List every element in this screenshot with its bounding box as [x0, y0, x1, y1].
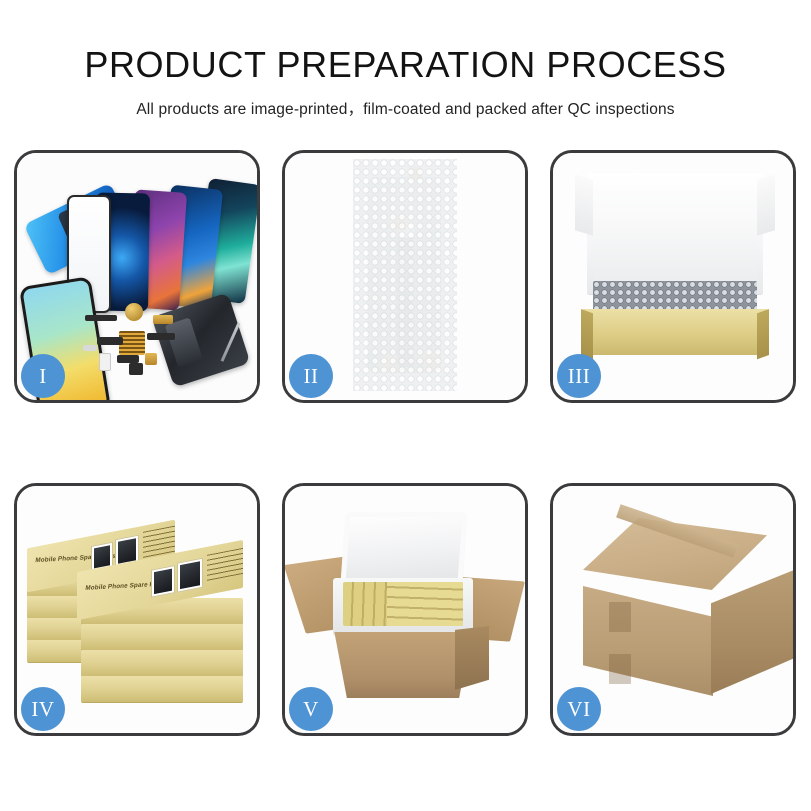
ribbon-cable-part [147, 333, 175, 340]
panel-badge-1: I [21, 354, 65, 398]
page-title: PRODUCT PREPARATION PROCESS [0, 46, 811, 84]
process-panel-3[interactable]: III [550, 150, 796, 403]
bubble-wrap-package [353, 159, 457, 391]
panel-badge-4: IV [21, 687, 65, 731]
sim-tray-part [99, 353, 111, 371]
stack-slab-r4 [81, 676, 243, 702]
process-panel-6[interactable]: VI [550, 483, 796, 736]
stack-slab-r2 [81, 624, 243, 650]
button-part [129, 363, 143, 375]
foam-box-lid [340, 512, 467, 584]
open-kraft-box-photo: III [553, 153, 793, 400]
retail-boxes-inside-right [387, 582, 463, 626]
carton-tab-lower [609, 654, 631, 684]
process-panel-2[interactable]: II [282, 150, 528, 403]
page-header: PRODUCT PREPARATION PROCESS All products… [0, 0, 811, 119]
spare-parts-photo: I [17, 153, 257, 400]
panel-badge-3: III [557, 354, 601, 398]
box-kraft-base [583, 309, 767, 355]
sealed-carton-photo: VI [553, 486, 793, 733]
panel-badge-2: II [289, 354, 333, 398]
process-panel-5[interactable]: V [282, 483, 528, 736]
panel-badge-6: VI [557, 687, 601, 731]
carton-with-foam-photo: V [285, 486, 525, 733]
small-clip-part [83, 345, 97, 351]
carton-left-face [583, 586, 713, 696]
box-stack: Mobile Phone Spare Parts Mobile Phone Sp… [25, 512, 251, 712]
carton-side-wall [455, 626, 489, 690]
stacked-boxes-photo: Mobile Phone Spare Parts Mobile Phone Sp… [17, 486, 257, 733]
process-panel-4[interactable]: Mobile Phone Spare Parts Mobile Phone Sp… [14, 483, 260, 736]
box-window-front-1 [151, 565, 175, 598]
earpiece-mesh-part [85, 315, 117, 321]
panel-badge-5: V [289, 687, 333, 731]
flex-connector-part [153, 315, 173, 324]
camera-module-part [97, 337, 123, 345]
box-spec-lines-back [143, 523, 175, 558]
page-subtitle: All products are image-printed，film-coat… [0, 97, 811, 119]
vibration-motor-part [125, 303, 143, 321]
process-panel-1[interactable]: I [14, 150, 260, 403]
carton-tab-upper [609, 602, 631, 632]
stack-slab-r3 [81, 650, 243, 676]
speaker-part [117, 355, 139, 363]
box-foam-liner [593, 209, 757, 281]
carton-right-face [711, 568, 793, 694]
process-panel-grid: I II III [14, 150, 797, 736]
gold-contact-part [145, 353, 157, 365]
box-spec-lines-front [207, 546, 243, 581]
box-window-front-2 [177, 558, 203, 593]
bubble-wrapped-screen-photo: II [285, 153, 525, 400]
